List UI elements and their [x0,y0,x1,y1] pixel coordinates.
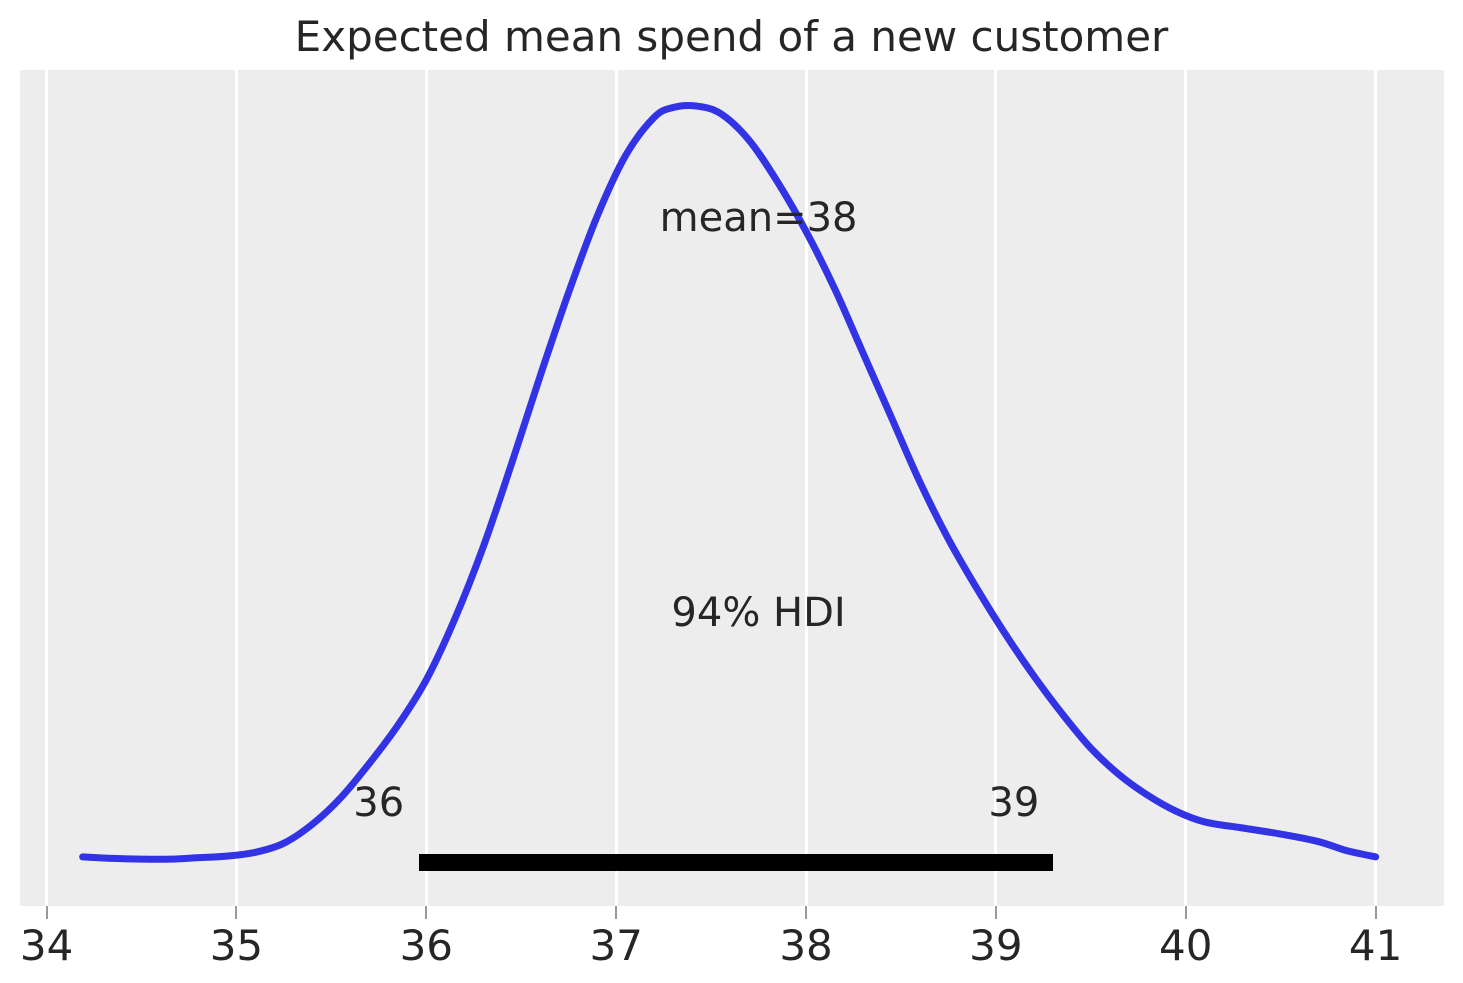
x-tick-mark-38 [805,906,807,919]
x-tick-mark-35 [235,906,237,919]
mean-annotation-label: mean=38 [660,195,858,241]
x-tick-label-38: 38 [779,921,832,970]
x-tick-mark-34 [46,906,48,919]
x-tick-mark-39 [995,906,997,919]
x-tick-mark-37 [615,906,617,919]
x-tick-mark-40 [1185,906,1187,919]
x-tick-mark-36 [425,906,427,919]
chart-title: Expected mean spend of a new customer [0,12,1463,61]
hdi-low-bound-label: 36 [353,780,404,826]
density-chart-figure: Expected mean spend of a new customer me… [0,0,1463,983]
x-tick-label-41: 41 [1349,921,1402,970]
x-tick-label-39: 39 [969,921,1022,970]
x-tick-label-34: 34 [20,921,73,970]
hdi-high-bound-label: 39 [988,780,1039,826]
x-tick-label-37: 37 [589,921,642,970]
hdi-annotation-label: 94% HDI [671,590,845,636]
x-tick-label-40: 40 [1159,921,1212,970]
x-tick-label-36: 36 [400,921,453,970]
x-tick-mark-41 [1375,906,1377,919]
x-tick-label-35: 35 [210,921,263,970]
plot-area: mean=38 94% HDI 36 39 [20,70,1444,906]
hdi-interval-bar [419,854,1053,871]
